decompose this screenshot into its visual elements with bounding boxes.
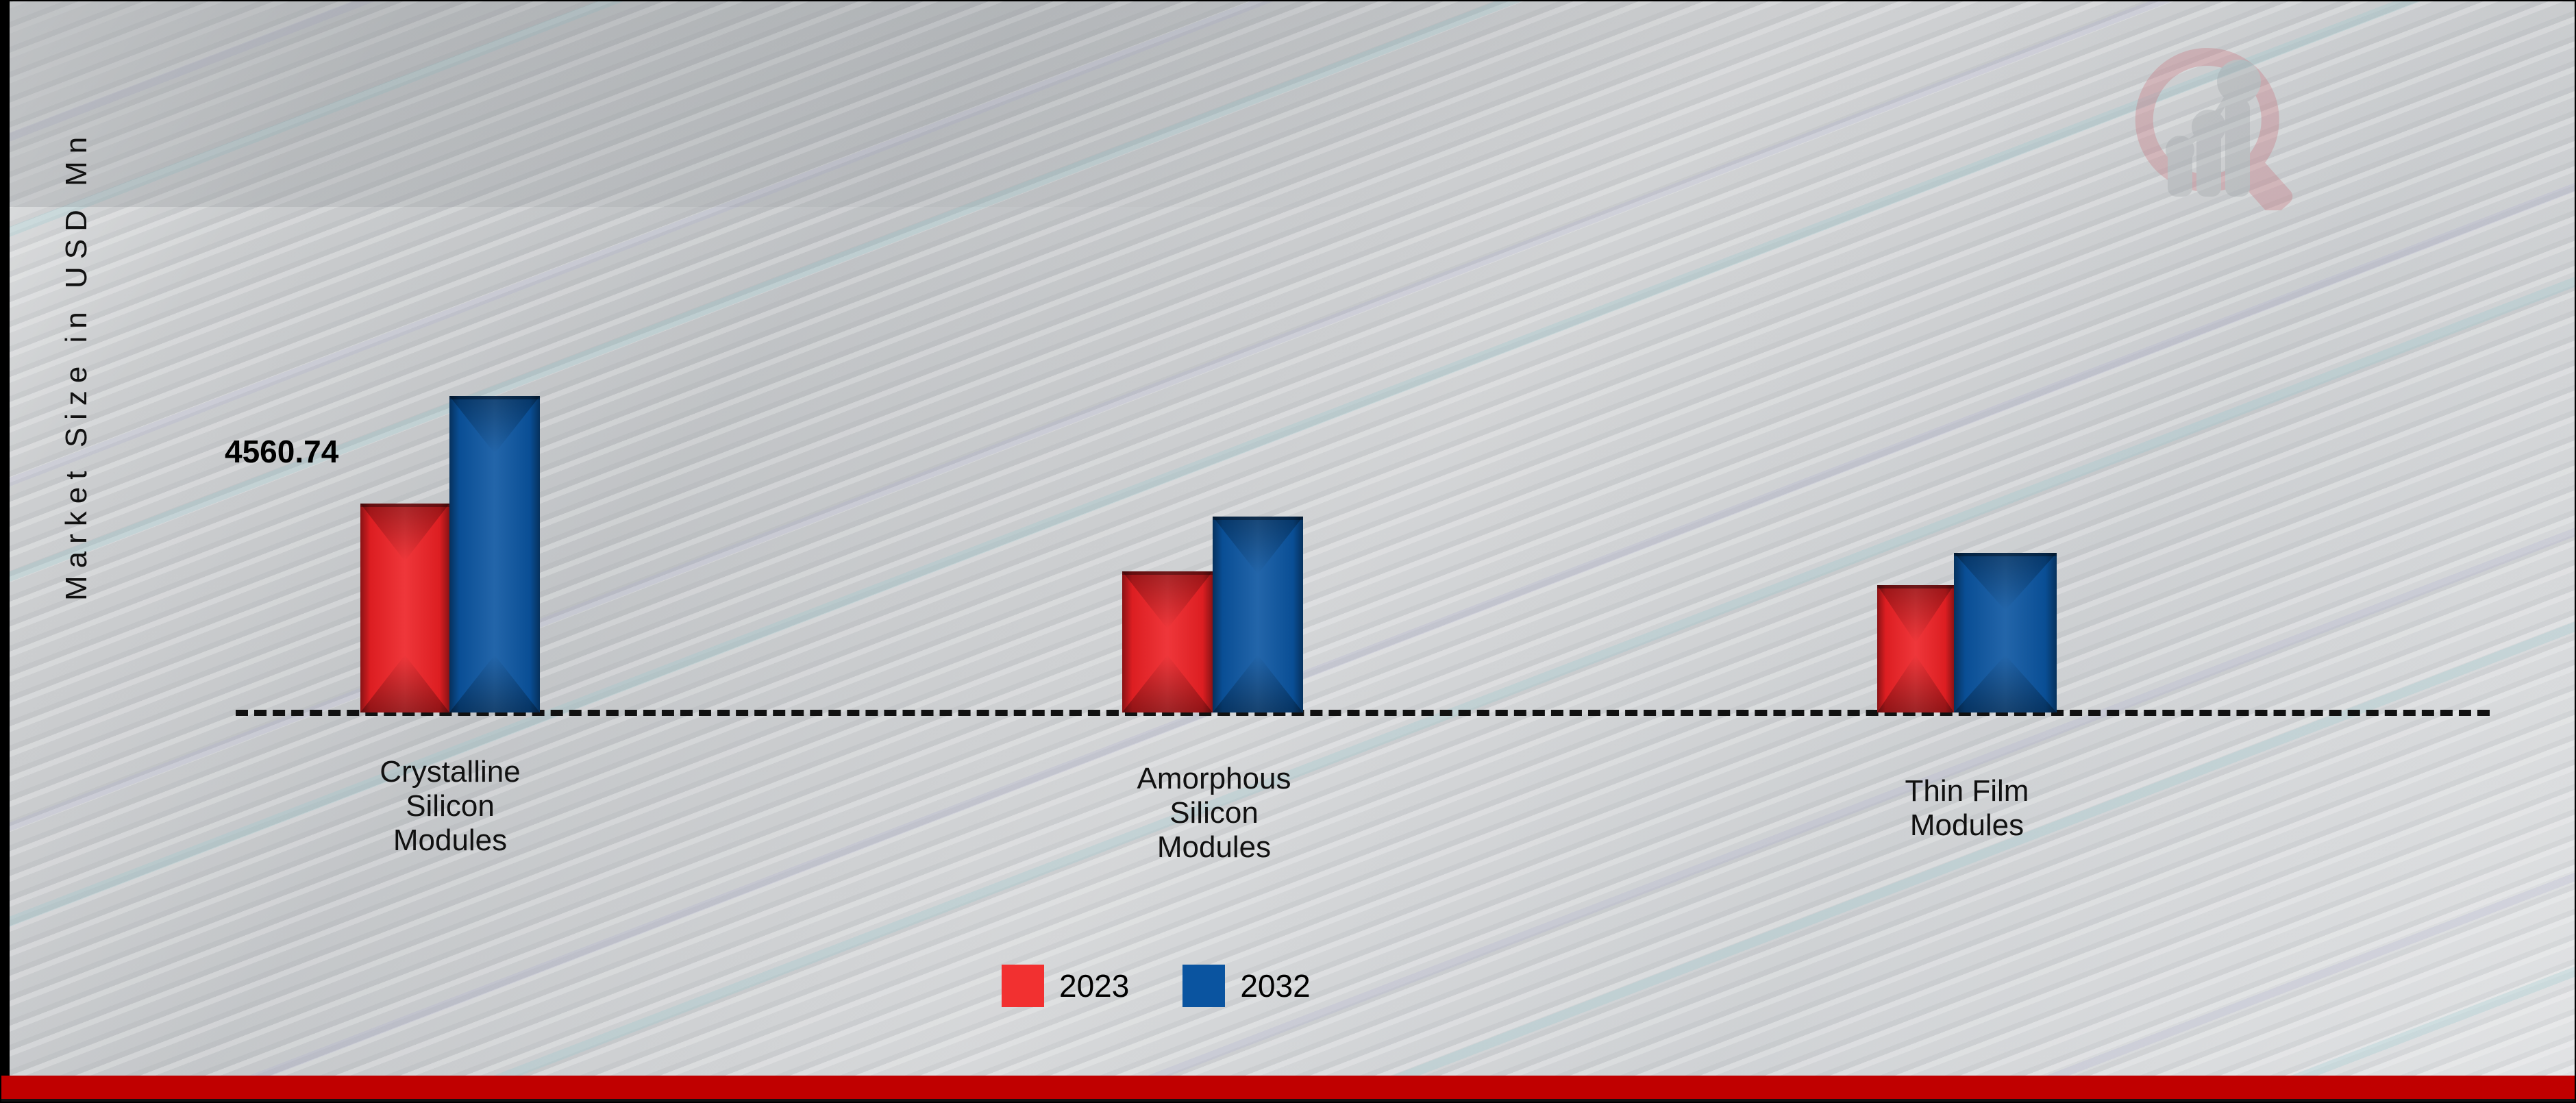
category-label-line: Modules xyxy=(289,823,611,858)
footer-red-bar xyxy=(1,1076,2575,1102)
bar-2023-crystalline-silicon-modules[interactable] xyxy=(360,504,449,712)
left-black-border xyxy=(1,1,10,1102)
footer-bottom-edge xyxy=(1,1099,2575,1102)
legend-item-2023[interactable]: 2023 xyxy=(1002,965,1129,1007)
axis-baseline-dashed xyxy=(236,710,2490,716)
magnifier-bar-chart-icon xyxy=(2125,46,2303,210)
data-label-crystalline-2023: 4560.74 xyxy=(225,433,338,470)
category-label-line: Modules xyxy=(1806,808,2128,843)
y-axis-title: Market Size in USD Mn xyxy=(60,245,94,601)
chart-canvas: Market Size in USD Mn 4560.74 Crystallin… xyxy=(0,0,2576,1103)
bar-2023-thin-film-modules[interactable] xyxy=(1877,585,1954,712)
bar-2032-crystalline-silicon-modules[interactable] xyxy=(449,396,540,712)
chart-legend: 2023 2032 xyxy=(1002,965,1311,1007)
category-label-line: Crystalline xyxy=(289,755,611,789)
category-label-line: Thin Film xyxy=(1806,774,2128,808)
category-label-line: Silicon xyxy=(289,789,611,823)
bar-2023-amorphous-silicon-modules[interactable] xyxy=(1122,571,1213,712)
category-label-amorphous-silicon-modules: Amorphous Silicon Modules xyxy=(1053,762,1375,865)
watermark-logo xyxy=(2125,46,2303,210)
legend-label-2023: 2023 xyxy=(1059,967,1129,1004)
category-label-thin-film-modules: Thin Film Modules xyxy=(1806,774,2128,843)
legend-label-2032: 2032 xyxy=(1240,967,1310,1004)
category-label-line: Amorphous xyxy=(1053,762,1375,796)
legend-swatch-2032-icon xyxy=(1182,965,1225,1007)
category-label-line: Modules xyxy=(1053,830,1375,865)
category-label-crystalline-silicon-modules: Crystalline Silicon Modules xyxy=(289,755,611,858)
legend-item-2032[interactable]: 2032 xyxy=(1182,965,1310,1007)
legend-swatch-2023-icon xyxy=(1002,965,1044,1007)
bar-2032-amorphous-silicon-modules[interactable] xyxy=(1213,517,1303,712)
category-label-line: Silicon xyxy=(1053,796,1375,830)
bar-2032-thin-film-modules[interactable] xyxy=(1954,553,2057,712)
